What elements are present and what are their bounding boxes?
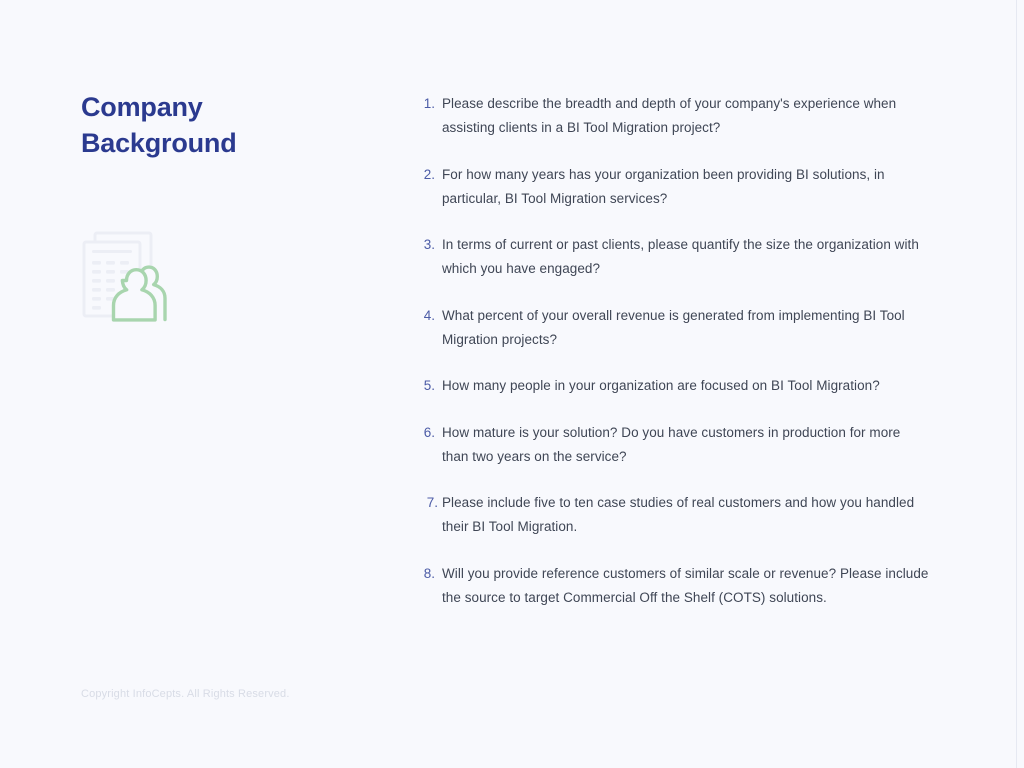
list-item-text: How many people in your organization are… [442, 374, 930, 398]
list-item-number: 7. [418, 491, 442, 515]
list-item-number: 4. [418, 304, 442, 328]
list-item: 5. How many people in your organization … [418, 374, 930, 398]
list-item-number: 8. [418, 562, 442, 586]
left-column: Company Background [81, 90, 381, 161]
list-item: 6. How mature is your solution? Do you h… [418, 421, 930, 469]
list-item-number: 2. [418, 163, 442, 187]
footer-copyright: Copyright InfoCepts. All Rights Reserved… [81, 688, 290, 700]
list-item-text: In terms of current or past clients, ple… [442, 233, 930, 281]
list-item-text: What percent of your overall revenue is … [442, 304, 930, 352]
list-item-number: 1. [418, 92, 442, 116]
slide-canvas: Company Background [0, 0, 1024, 768]
list-item-text: Please describe the breadth and depth of… [442, 92, 930, 140]
list-item-text: Please include five to ten case studies … [442, 491, 930, 539]
company-people-icon [81, 229, 175, 323]
list-item: 3. In terms of current or past clients, … [418, 233, 930, 281]
list-item: 1. Please describe the breadth and depth… [418, 92, 930, 140]
list-item-text: For how many years has your organization… [442, 163, 930, 211]
list-item-text: How mature is your solution? Do you have… [442, 421, 930, 469]
slide-edge-divider [1016, 0, 1017, 768]
list-item: 8. Will you provide reference customers … [418, 562, 930, 610]
page-title: Company Background [81, 90, 381, 161]
list-item: 2. For how many years has your organizat… [418, 163, 930, 211]
list-item-number: 6. [418, 421, 442, 445]
list-item-text: Will you provide reference customers of … [442, 562, 930, 610]
question-list: 1. Please describe the breadth and depth… [418, 92, 930, 610]
list-item-number: 5. [418, 374, 442, 398]
list-item: 7. Please include five to ten case studi… [418, 491, 930, 539]
list-item: 4. What percent of your overall revenue … [418, 304, 930, 352]
list-item-number: 3. [418, 233, 442, 257]
